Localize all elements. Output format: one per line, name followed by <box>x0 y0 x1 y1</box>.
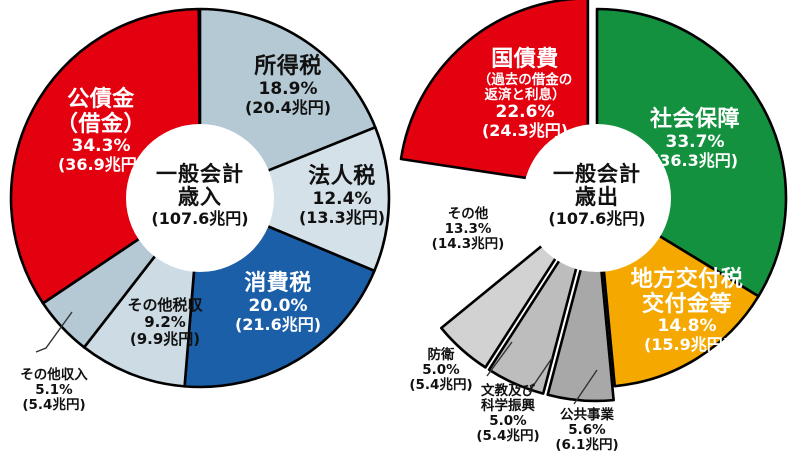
label-debt-service-sub2: 返済と利息） <box>445 88 605 103</box>
label-corporate-tax-name: 法人税 <box>277 165 407 190</box>
label-corporate-tax: 法人税 12.4% (13.3兆円) <box>277 165 407 227</box>
label-other-income-pct: 5.1% <box>0 383 108 398</box>
label-corporate-tax-pct: 12.4% <box>277 190 407 209</box>
label-government-bonds-pct: 34.3% <box>26 137 176 156</box>
label-income-tax: 所得税 18.9% (20.4兆円) <box>218 55 358 117</box>
label-consumption-tax-amt: (21.6兆円) <box>213 316 343 334</box>
label-debt-service: 国債費 （過去の借金の 返済と利息） 22.6% (24.3兆円) <box>445 48 605 140</box>
label-government-bonds-name2: （借金） <box>26 113 176 138</box>
label-local-allocation-tax-name: 地方交付税 <box>612 268 762 293</box>
label-debt-service-amt: (24.3兆円) <box>445 122 605 140</box>
label-other-expenditure: その他 13.3% (14.3兆円) <box>418 207 518 252</box>
label-education-science-pct: 5.0% <box>453 414 563 429</box>
infographic-canvas: 一般会計 歳入 (107.6兆円) 所得税 18.9% (20.4兆円) 法人税… <box>0 0 800 468</box>
label-defense-pct: 5.0% <box>394 363 488 378</box>
label-social-security: 社会保障 33.7% (36.3兆円) <box>625 108 765 170</box>
label-social-security-pct: 33.7% <box>625 133 765 152</box>
label-education-science-name2: 科学振興 <box>453 399 563 414</box>
label-other-income-amt: (5.4兆円) <box>0 398 108 413</box>
label-other-expenditure-amt: (14.3兆円) <box>418 237 518 252</box>
label-defense-name: 防衛 <box>394 348 488 363</box>
label-other-tax-revenue-name: その他税収 <box>110 297 220 314</box>
label-other-tax-revenue-pct: 9.2% <box>110 314 220 331</box>
label-income-tax-name: 所得税 <box>218 55 358 80</box>
label-government-bonds-name: 公債金 <box>26 88 176 113</box>
label-social-security-name: 社会保障 <box>625 108 765 133</box>
label-local-allocation-tax-pct: 14.8% <box>612 317 762 336</box>
expenditure-center-total: (107.6兆円) <box>527 210 667 228</box>
label-consumption-tax: 消費税 20.0% (21.6兆円) <box>213 272 343 334</box>
label-other-income-name: その他収入 <box>0 368 108 383</box>
label-other-expenditure-name: その他 <box>418 207 518 222</box>
label-other-expenditure-pct: 13.3% <box>418 222 518 237</box>
label-defense-amt: (5.4兆円) <box>394 378 488 393</box>
label-consumption-tax-name: 消費税 <box>213 272 343 297</box>
label-local-allocation-tax-amt: (15.9兆円) <box>612 336 762 354</box>
label-debt-service-name: 国債費 <box>445 48 605 73</box>
label-government-bonds: 公債金 （借金） 34.3% (36.9兆円) <box>26 88 176 174</box>
label-other-tax-revenue-amt: (9.9兆円) <box>110 331 220 348</box>
label-local-allocation-tax-name2: 交付金等 <box>612 293 762 318</box>
label-income-tax-pct: 18.9% <box>218 80 358 99</box>
expenditure-center-line2: 歳出 <box>527 186 667 209</box>
label-other-income: その他収入 5.1% (5.4兆円) <box>0 368 108 413</box>
label-defense: 防衛 5.0% (5.4兆円) <box>394 348 488 393</box>
label-income-tax-amt: (20.4兆円) <box>218 99 358 117</box>
label-other-tax-revenue: その他税収 9.2% (9.9兆円) <box>110 297 220 347</box>
label-debt-service-pct: 22.6% <box>445 103 605 122</box>
label-government-bonds-amt: (36.9兆円) <box>26 156 176 174</box>
revenue-center-total: (107.6兆円) <box>130 210 270 228</box>
label-local-allocation-tax: 地方交付税 交付金等 14.8% (15.9兆円) <box>612 268 762 354</box>
expenditure-center-label: 一般会計 歳出 (107.6兆円) <box>527 163 667 228</box>
expenditure-pie-chart <box>0 0 800 468</box>
label-social-security-amt: (36.3兆円) <box>625 152 765 170</box>
label-education-science-amt: (5.4兆円) <box>453 429 563 444</box>
label-consumption-tax-pct: 20.0% <box>213 297 343 316</box>
revenue-center-line2: 歳入 <box>130 186 270 209</box>
label-corporate-tax-amt: (13.3兆円) <box>277 209 407 227</box>
label-debt-service-sub1: （過去の借金の <box>445 73 605 88</box>
